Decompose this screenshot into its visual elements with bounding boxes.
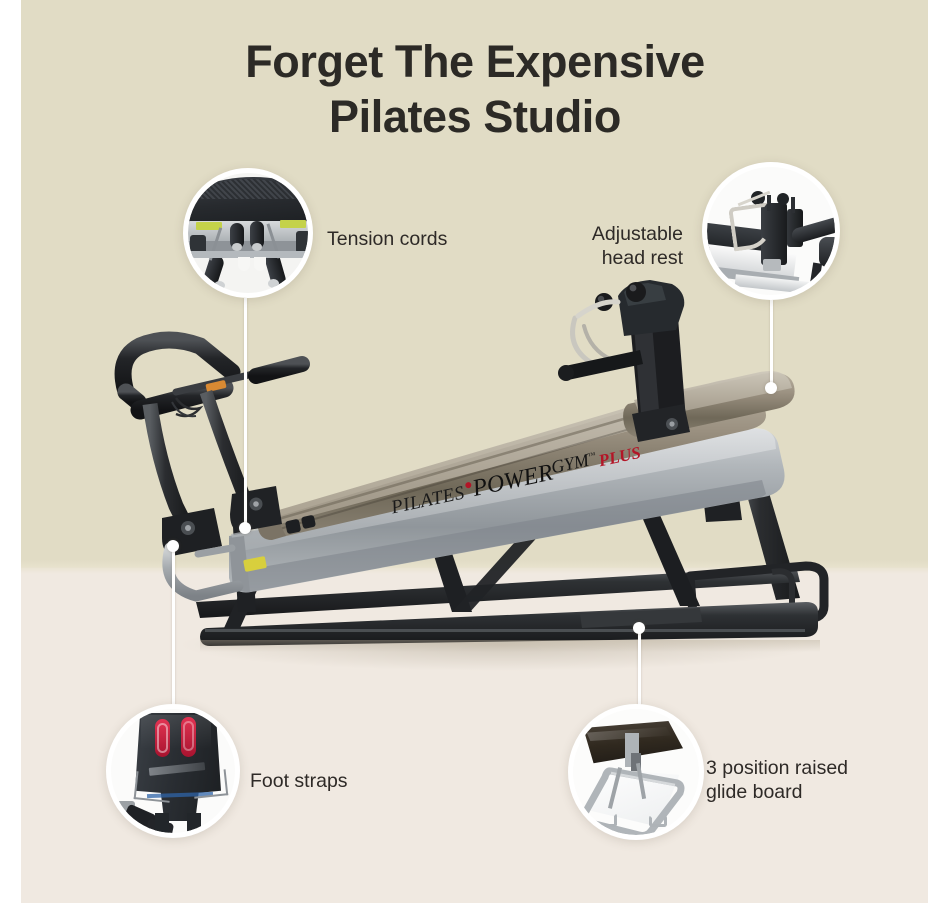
connector-dot-tension-cords <box>239 522 251 534</box>
connector-dot-head-rest <box>765 382 777 394</box>
callout-bubble-tension-cords[interactable] <box>183 168 313 298</box>
callout-bubble-head-rest[interactable] <box>702 162 840 300</box>
foot-straps-photo <box>111 709 235 833</box>
connector-dot-glide-board <box>633 622 645 634</box>
connector-dot-foot-straps <box>167 540 179 552</box>
callout-label-foot-straps: Foot straps <box>250 770 348 794</box>
connector-line-foot-straps <box>172 546 175 706</box>
infographic-canvas: Forget The Expensive Pilates Studio <box>0 0 950 903</box>
callout-label-head-rest: Adjustable head rest <box>583 223 683 271</box>
connector-line-glide-board <box>638 628 641 708</box>
callout-bubble-foot-straps[interactable] <box>106 704 240 838</box>
callout-bubble-glide-board[interactable] <box>568 704 704 840</box>
head-rest-photo <box>707 167 835 295</box>
callout-label-tension-cords: Tension cords <box>327 228 447 252</box>
connector-line-head-rest <box>770 300 773 388</box>
callout-label-glide-board: 3 position raised glide board <box>706 757 848 805</box>
tension-cords-photo <box>188 173 308 293</box>
connector-line-tension-cords <box>244 298 247 528</box>
glide-board-photo <box>573 709 699 835</box>
